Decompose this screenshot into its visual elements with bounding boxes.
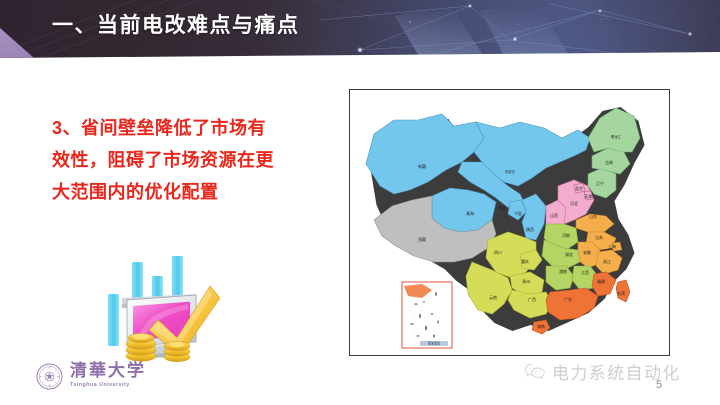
- map-label-湖北: 湖北: [565, 252, 573, 257]
- map-label-河北: 河北: [570, 201, 578, 206]
- map-label-甘肃: 甘肃: [498, 205, 506, 210]
- tsinghua-wordmark: 清華大学 Tsinghua University: [70, 363, 146, 388]
- map-region-guangdong: [546, 288, 598, 320]
- map-label-吉林: 吉林: [605, 160, 613, 165]
- headline-line-2: 效性，阻碍了市场资源在更: [52, 144, 322, 176]
- map-label-河南: 河南: [562, 233, 570, 238]
- map-label-辽宁: 辽宁: [596, 181, 604, 186]
- wechat-icon: [524, 362, 546, 380]
- map-label-安徽: 安徽: [583, 250, 591, 255]
- map-inset-south-china-sea: 南海诸岛: [402, 282, 452, 348]
- map-label-内蒙古: 内蒙古: [505, 169, 516, 174]
- headline-line-3: 大范围内的优化配置: [52, 176, 322, 208]
- map-label-江苏: 江苏: [595, 235, 603, 240]
- map-label-天津: 天津: [584, 194, 592, 199]
- map-region-heilongjiang: [588, 108, 640, 152]
- map-label-山东: 山东: [589, 214, 597, 219]
- bar-chart-monitor-coins-illustration: [92, 238, 220, 364]
- headline-red-text: 3、省间壁垒降低了市场有 效性，阻碍了市场资源在更 大范围内的优化配置: [52, 112, 322, 208]
- map-label-广东: 广东: [564, 297, 572, 302]
- map-label-新疆: 新疆: [418, 164, 426, 169]
- map-label-云南: 云南: [489, 295, 497, 300]
- headline-line-1: 3、省间壁垒降低了市场有: [52, 112, 322, 144]
- header-network-graphic: [300, 0, 720, 58]
- map-label-海南: 海南: [537, 324, 545, 329]
- map-label-西藏: 西藏: [418, 237, 426, 242]
- map-label-上海: 上海: [608, 244, 616, 249]
- map-label-贵州: 贵州: [522, 279, 530, 284]
- map-label-陕西: 陕西: [526, 227, 534, 232]
- china-map-panel: 新疆内蒙古黑龙江吉林辽宁青海甘肃宁夏陕西西藏山西河北北京天津山东河南江苏上海安徽…: [349, 89, 670, 356]
- map-label-福建: 福建: [597, 279, 605, 284]
- map-label-北京: 北京: [575, 186, 583, 191]
- map-label-浙江: 浙江: [603, 259, 611, 264]
- map-label-四川: 四川: [494, 250, 502, 255]
- tsinghua-university-logo: 清華大学 Tsinghua University: [36, 356, 160, 396]
- map-label-黑龙江: 黑龙江: [611, 134, 622, 139]
- slide-header-banner: 一、当前电改难点与痛点: [0, 0, 720, 58]
- tsinghua-name-chinese: 清華大学: [70, 363, 146, 380]
- map-label-江西: 江西: [581, 270, 589, 275]
- map-label-台湾: 台湾: [617, 291, 625, 296]
- map-label-山西: 山西: [550, 213, 558, 218]
- map-label-宁夏: 宁夏: [514, 211, 522, 216]
- tsinghua-name-english: Tsinghua University: [70, 383, 146, 388]
- china-administrative-map: 新疆内蒙古黑龙江吉林辽宁青海甘肃宁夏陕西西藏山西河北北京天津山东河南江苏上海安徽…: [350, 90, 670, 356]
- page-number: 5: [656, 379, 662, 391]
- map-label-广西: 广西: [528, 297, 536, 302]
- map-label-青海: 青海: [466, 211, 474, 216]
- map-inset-label: 南海诸岛: [428, 340, 441, 345]
- page-title: 一、当前电改难点与痛点: [52, 13, 300, 39]
- map-label-湖南: 湖南: [559, 269, 567, 274]
- map-label-重庆: 重庆: [521, 259, 529, 264]
- tsinghua-seal-icon: [36, 363, 63, 390]
